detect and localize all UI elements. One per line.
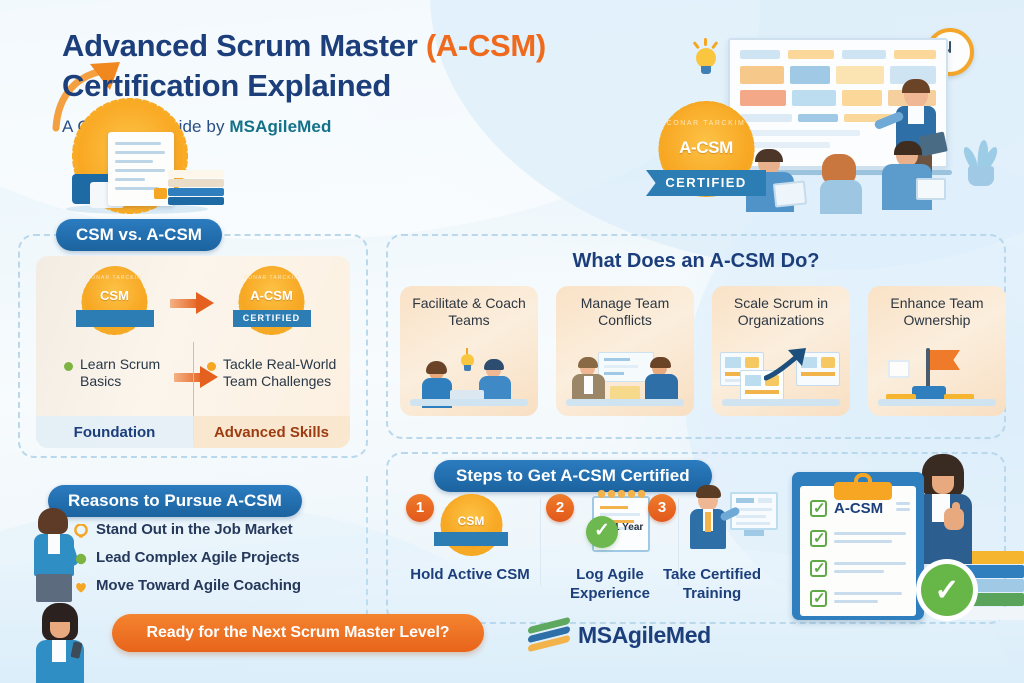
flag-podium-icon bbox=[868, 348, 1006, 410]
big-check-badge-icon: ✓ bbox=[916, 559, 978, 621]
big-check-glyph: ✓ bbox=[921, 564, 973, 616]
task-card-conflicts[interactable]: Manage Team Conflicts bbox=[556, 286, 694, 416]
transition-arrow-icon bbox=[170, 292, 216, 314]
check-circle-icon: ✓ bbox=[586, 516, 618, 548]
reason-item-2: Lead Complex Agile Projects bbox=[96, 549, 299, 566]
certificate-documents-illustration bbox=[42, 104, 222, 212]
clipboard-checklist-illustration: A-CSM ✓ bbox=[786, 450, 1024, 625]
trainer-screen-icon bbox=[682, 488, 778, 560]
lightbulb-icon bbox=[74, 524, 88, 538]
two-people-discussion-icon bbox=[556, 348, 694, 410]
steps-panel-title: Steps to Get A-CSM Certified bbox=[434, 460, 712, 492]
book-stack-icon bbox=[168, 170, 224, 208]
document-sheet-icon bbox=[108, 132, 174, 206]
two-people-laptop-lightbulb-icon bbox=[400, 348, 538, 410]
subtitle-brand: MSAgileMed bbox=[229, 117, 331, 136]
step-divider bbox=[540, 498, 541, 586]
csm-badge-arc: CONAR TARCKIM bbox=[77, 275, 153, 281]
task-card-ownership[interactable]: Enhance Team Ownership bbox=[868, 286, 1006, 416]
compare-panel-title: CSM vs. A-CSM bbox=[56, 219, 222, 251]
checkbox-checked[interactable] bbox=[810, 560, 827, 577]
checkbox-checked[interactable] bbox=[810, 530, 827, 547]
acsm-badge-label: A-CSM bbox=[234, 288, 310, 303]
attendee-figure-icon bbox=[876, 144, 942, 212]
infographic-canvas: Advanced Scrum Master (A-CSM) Certificat… bbox=[0, 0, 1024, 683]
badge-label: A-CSM bbox=[661, 138, 751, 158]
compare-card: CONAR TARCKIM CSM Learn Scrum Basics CON… bbox=[36, 256, 350, 448]
step-badge-label: CSM bbox=[436, 514, 506, 528]
task-card-label: Enhance Team Ownership bbox=[874, 295, 1000, 329]
green-dot-icon bbox=[74, 552, 88, 566]
compare-footer-advanced: Advanced Skills bbox=[193, 416, 350, 448]
compare-acsm-bullet: Tackle Real-World Team Challenges bbox=[223, 356, 341, 390]
checkbox-checked[interactable] bbox=[810, 500, 827, 517]
task-card-facilitate[interactable]: Facilitate & Coach Teams bbox=[400, 286, 538, 416]
title-accent: (A-CSM) bbox=[426, 28, 546, 63]
woman-phone-illustration bbox=[28, 606, 98, 680]
clipboard-paper: A-CSM bbox=[800, 486, 916, 616]
reason-item-1: Stand Out in the Job Market bbox=[96, 521, 292, 538]
task-card-label: Manage Team Conflicts bbox=[562, 295, 688, 329]
checkbox-checked[interactable] bbox=[810, 590, 827, 607]
csm-badge-icon: CONAR TARCKIM CSM bbox=[77, 266, 153, 338]
title-main: Advanced Scrum Master bbox=[62, 28, 426, 63]
cta-button[interactable]: Ready for the Next Scrum Master Level? bbox=[112, 614, 484, 652]
clipboard-clamp-icon bbox=[834, 482, 892, 500]
clipboard-icon: A-CSM bbox=[792, 472, 924, 620]
header-section: Advanced Scrum Master (A-CSM) Certificat… bbox=[0, 0, 1024, 218]
badge-ribbon: CERTIFIED bbox=[646, 170, 766, 196]
step-caption: Take Certified Training bbox=[648, 566, 776, 604]
badge-arc-text: CONAR TARCKIM bbox=[661, 120, 751, 127]
task-card-label: Scale Scrum in Organizations bbox=[718, 295, 844, 329]
heart-icon bbox=[74, 580, 88, 594]
compare-csm-bullet: Learn Scrum Basics bbox=[80, 356, 176, 390]
document-seal-icon bbox=[154, 188, 167, 199]
step-duration-label: 1 Year bbox=[614, 522, 643, 533]
csm-badge-icon: CSM bbox=[436, 490, 506, 560]
acsm-badge-ribbon: CERTIFIED bbox=[233, 310, 311, 327]
step-number: 2 bbox=[546, 494, 574, 522]
plant-icon bbox=[960, 132, 1002, 186]
title-line-2: Certification Explained bbox=[62, 66, 682, 106]
attendee-figure-icon bbox=[812, 158, 870, 212]
brand-logo: MSAgileMed bbox=[528, 618, 744, 652]
compare-footer-foundation: Foundation bbox=[36, 416, 193, 448]
task-card-label: Facilitate & Coach Teams bbox=[406, 295, 532, 329]
panel-divider bbox=[366, 476, 368, 626]
step-caption: Hold Active CSM bbox=[406, 566, 534, 585]
step-number: 3 bbox=[648, 494, 676, 522]
notepad-check-icon: 1 Year ✓ bbox=[584, 490, 658, 560]
growth-arrow-icon bbox=[764, 348, 808, 382]
clipboard-title: A-CSM bbox=[834, 500, 883, 517]
logo-text: MSAgileMed bbox=[578, 622, 711, 649]
bullet-dot-icon bbox=[64, 362, 73, 371]
acsm-badge-icon: CONAR TARCKIM A-CSM CERTIFIED bbox=[234, 266, 310, 338]
tasks-panel-title: What Does an A-CSM Do? bbox=[386, 250, 1006, 273]
compare-footer: Foundation Advanced Skills bbox=[36, 416, 350, 448]
acsm-hero-badge: CONAR TARCKIM A-CSM CERTIFIED bbox=[644, 104, 768, 216]
csm-badge-label: CSM bbox=[77, 288, 153, 303]
task-card-scale[interactable]: Scale Scrum in Organizations bbox=[712, 286, 850, 416]
screens-growth-arrow-icon bbox=[712, 348, 850, 410]
acsm-badge-arc: CONAR TARCKIM bbox=[234, 275, 310, 281]
reason-item-3: Move Toward Agile Coaching bbox=[96, 577, 301, 594]
step-number: 1 bbox=[406, 494, 434, 522]
transition-arrow-icon bbox=[174, 366, 220, 388]
reasons-panel-title: Reasons to Pursue A-CSM bbox=[48, 485, 302, 517]
logo-mark-icon bbox=[528, 620, 572, 650]
lightbulb-icon bbox=[692, 42, 720, 76]
